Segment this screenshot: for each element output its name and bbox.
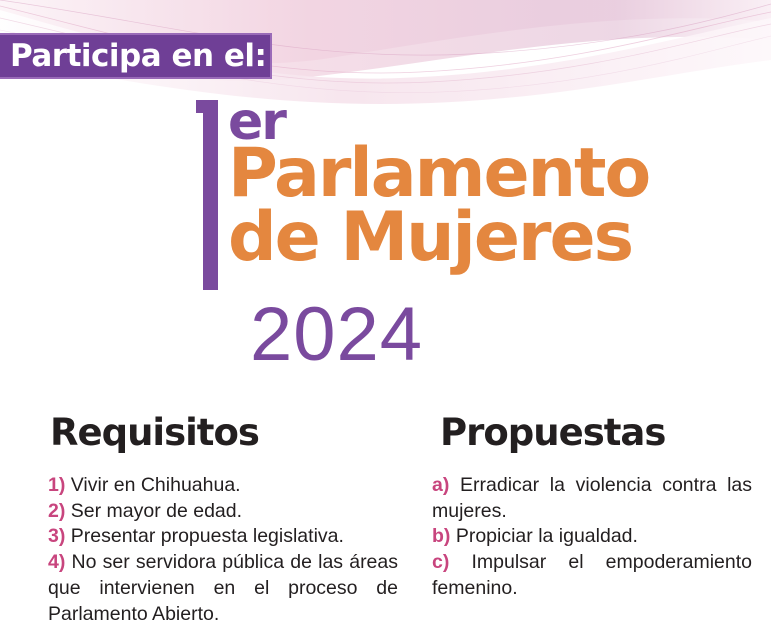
list-item: b) Propiciar la igualdad. xyxy=(432,524,752,550)
item-text: Impulsar el empoderamiento femenino. xyxy=(432,551,752,599)
item-marker: c) xyxy=(432,551,449,573)
item-text: Propiciar la igualdad. xyxy=(456,525,638,547)
main-title-block: er Parlamento de Mujeres xyxy=(196,98,756,298)
requisitos-list: 1) Vivir en Chihuahua. 2) Ser mayor de e… xyxy=(48,473,398,627)
title-line-de-mujeres: de Mujeres xyxy=(228,206,649,269)
propuestas-heading: Propuestas xyxy=(432,414,752,451)
requisitos-heading: Requisitos xyxy=(48,414,398,451)
list-item: 2) Ser mayor de edad. xyxy=(48,499,398,525)
list-item: 1) Vivir en Chihuahua. xyxy=(48,473,398,499)
participa-banner: Participa en el: xyxy=(0,33,272,79)
banner-label: Participa en el: xyxy=(0,38,266,74)
list-item: 4) No ser servidora pública de las áreas… xyxy=(48,550,398,627)
title-line-parlamento: Parlamento xyxy=(228,142,649,205)
item-text: No ser servidora pública de las áreas qu… xyxy=(48,551,398,624)
item-marker: b) xyxy=(432,525,450,547)
item-marker: 1) xyxy=(48,474,65,496)
list-item: a) Erradicar la violencia contra las muj… xyxy=(432,473,752,524)
item-marker: a) xyxy=(432,474,449,496)
item-marker: 2) xyxy=(48,500,65,522)
item-text: Erradicar la violencia contra las mujere… xyxy=(432,474,752,522)
numeral-one-glyph xyxy=(196,100,218,290)
numeral-one-stem xyxy=(203,100,218,290)
item-text: Presentar propuesta legislativa. xyxy=(71,525,344,547)
list-item: 3) Presentar propuesta legislativa. xyxy=(48,524,398,550)
item-marker: 3) xyxy=(48,525,65,547)
propuestas-column: Propuestas a) Erradicar la violencia con… xyxy=(432,414,752,602)
propuestas-list: a) Erradicar la violencia contra las muj… xyxy=(432,473,752,602)
item-text: Vivir en Chihuahua. xyxy=(71,474,241,496)
title-lines: er Parlamento de Mujeres xyxy=(228,98,649,269)
poster-canvas: Participa en el: er Parlamento de Mujere… xyxy=(0,0,771,628)
title-year: 2024 xyxy=(250,297,423,373)
item-marker: 4) xyxy=(48,551,65,573)
list-item: c) Impulsar el empoderamiento femenino. xyxy=(432,550,752,601)
requisitos-column: Requisitos 1) Vivir en Chihuahua. 2) Ser… xyxy=(48,414,398,627)
item-text: Ser mayor de edad. xyxy=(71,500,242,522)
